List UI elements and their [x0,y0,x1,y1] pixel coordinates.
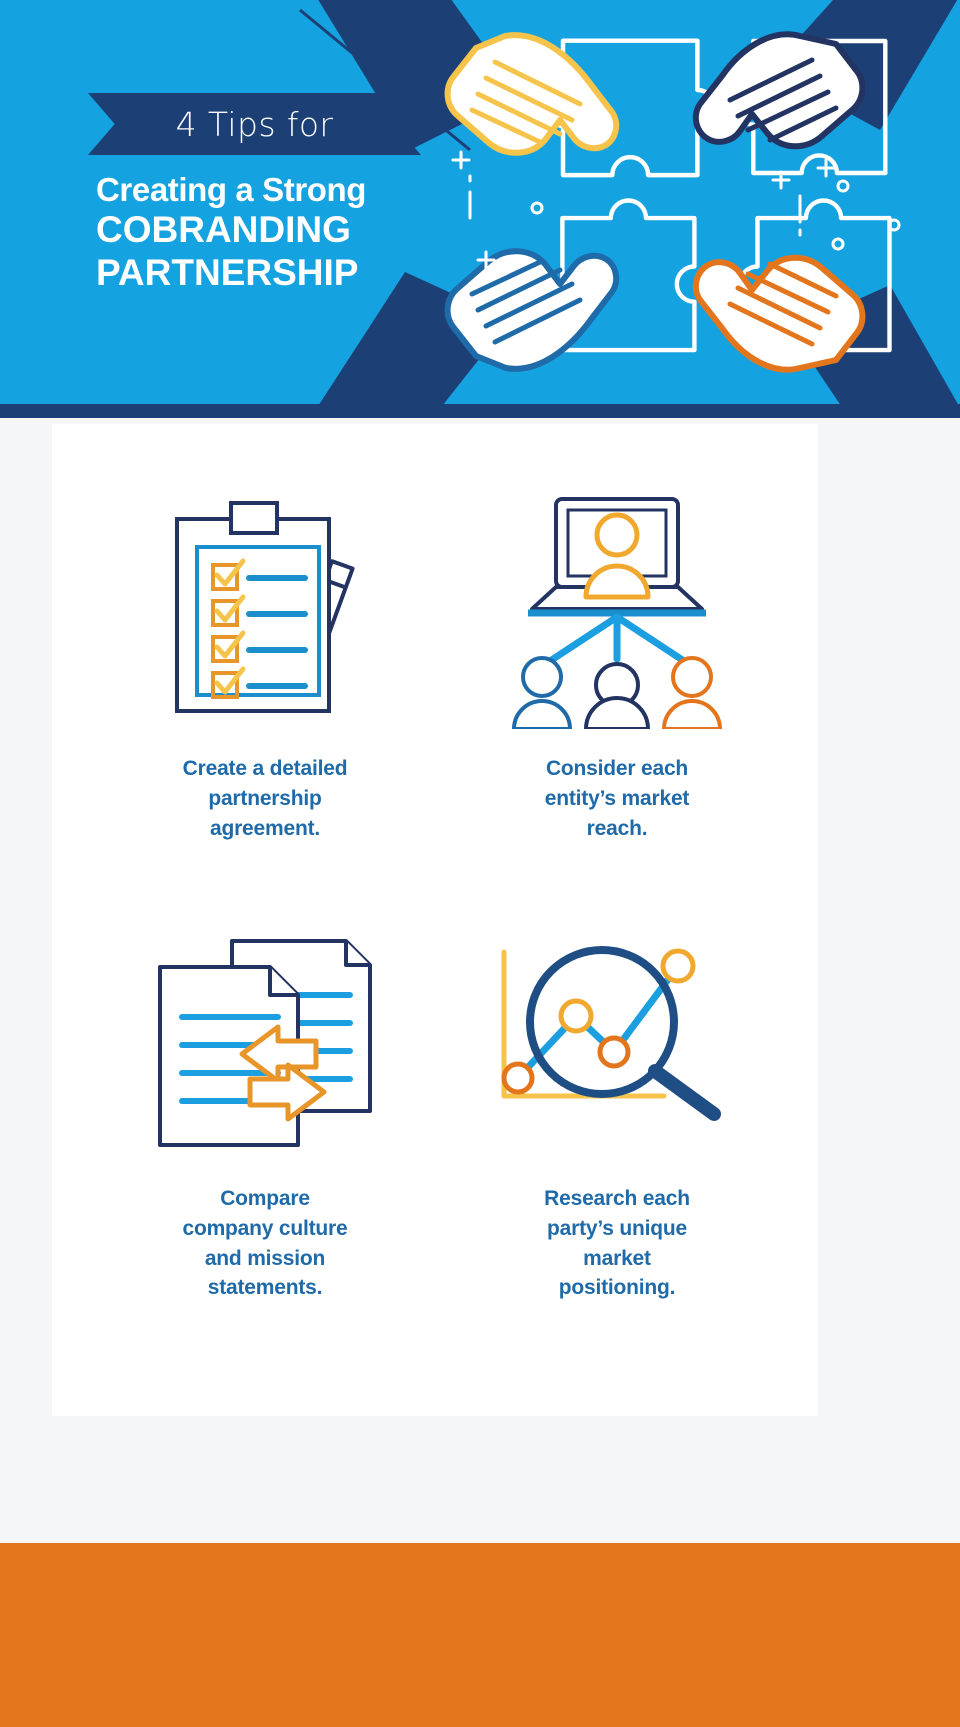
tip-caption-3-line-1: Compare [115,1184,415,1214]
tip-caption-1-line-3: agreement. [115,814,415,844]
tips-grid: Create a detailed partnership agreement. [52,424,818,1416]
tip-caption-4-line-3: market [467,1244,767,1274]
header-banner: 4 Tips for Creating a Strong COBRANDING … [0,0,960,404]
tip-caption-4-line-2: party’s unique [467,1214,767,1244]
tip-caption-2-line-3: reach. [467,814,767,844]
tip-item-4: Research each party’s unique market posi… [467,924,767,1303]
tip-caption-3-line-2: company culture [115,1214,415,1244]
tip-caption-2-line-2: entity’s market [467,784,767,814]
tip-item-3: Compare company culture and mission stat… [115,924,415,1303]
ribbon-badge: 4 Tips for [88,93,421,155]
tip-caption-3-line-3: and mission [115,1244,415,1274]
title-line-2: COBRANDING [96,209,466,252]
footer-bar [0,1543,960,1727]
documents-compare-arrows-icon [115,924,415,1164]
tip-caption-4-line-4: positioning. [467,1273,767,1303]
infographic-page: 4 Tips for Creating a Strong COBRANDING … [0,0,960,1727]
magnifier-chart-icon [467,924,767,1164]
tip-caption-4: Research each party’s unique market posi… [467,1184,767,1303]
tip-caption-1-line-2: partnership [115,784,415,814]
tip-item-2: Consider each entity’s market reach. [467,484,767,843]
tip-caption-2: Consider each entity’s market reach. [467,754,767,843]
header-divider-rule [0,404,960,418]
tip-item-1: Create a detailed partnership agreement. [115,484,415,843]
page-title: Creating a Strong COBRANDING PARTNERSHIP [96,172,466,295]
tip-caption-3-line-4: statements. [115,1273,415,1303]
tip-caption-4-line-1: Research each [467,1184,767,1214]
tips-card: Create a detailed partnership agreement. [52,424,818,1416]
tip-caption-1-line-1: Create a detailed [115,754,415,784]
tip-caption-2-line-1: Consider each [467,754,767,784]
tip-caption-3: Compare company culture and mission stat… [115,1184,415,1303]
ribbon-label: 4 Tips for [176,105,334,144]
tip-caption-1: Create a detailed partnership agreement. [115,754,415,843]
title-line-3: PARTNERSHIP [96,252,466,295]
title-line-1: Creating a Strong [96,172,466,209]
laptop-network-people-icon [467,484,767,734]
clipboard-checklist-icon [115,484,415,734]
